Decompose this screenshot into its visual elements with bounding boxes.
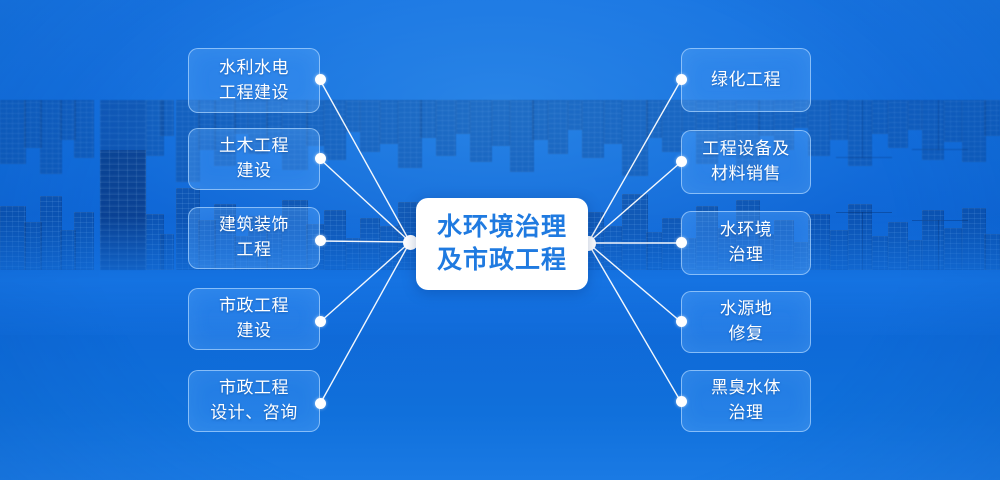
node-left-2-connector-dot xyxy=(315,153,326,164)
center-node-label: 水环境治理 及市政工程 xyxy=(437,211,567,277)
node-right-2-connector-dot xyxy=(676,156,687,167)
node-right-5-connector-dot xyxy=(676,396,687,407)
node-right-2-label: 工程设备及 材料销售 xyxy=(702,137,790,186)
node-left-1-label: 水利水电 工程建设 xyxy=(219,56,289,105)
node-right-4-connector-dot xyxy=(676,316,687,327)
connector-right-2 xyxy=(588,162,681,243)
node-right-3[interactable]: 水环境 治理 xyxy=(681,211,811,275)
node-right-1-connector-dot xyxy=(676,74,687,85)
connector-left-1 xyxy=(320,80,410,242)
connector-left-4 xyxy=(320,242,410,322)
connector-left-5 xyxy=(320,242,410,404)
connector-left-3 xyxy=(320,241,410,242)
diagram-canvas: 水利水电 工程建设 土木工程 建设 建筑装饰 工程 市政工程 建设 市政工程 设… xyxy=(0,0,1000,480)
node-left-3-label: 建筑装饰 工程 xyxy=(219,213,289,262)
node-right-5[interactable]: 黑臭水体 治理 xyxy=(681,370,811,432)
node-left-3-connector-dot xyxy=(315,235,326,246)
node-left-5-label: 市政工程 设计、咨询 xyxy=(210,376,298,425)
connector-right-4 xyxy=(588,243,681,322)
node-right-1[interactable]: 绿化工程 xyxy=(681,48,811,112)
node-left-5[interactable]: 市政工程 设计、咨询 xyxy=(188,370,320,432)
node-left-4-connector-dot xyxy=(315,316,326,327)
node-left-1-connector-dot xyxy=(315,74,326,85)
node-left-2-label: 土木工程 建设 xyxy=(219,134,289,183)
node-left-2[interactable]: 土木工程 建设 xyxy=(188,128,320,190)
node-right-3-connector-dot xyxy=(676,237,687,248)
node-right-2[interactable]: 工程设备及 材料销售 xyxy=(681,130,811,194)
node-left-5-connector-dot xyxy=(315,398,326,409)
node-left-3[interactable]: 建筑装饰 工程 xyxy=(188,207,320,269)
node-right-5-label: 黑臭水体 治理 xyxy=(711,376,781,425)
connector-right-1 xyxy=(588,80,681,243)
connector-right-5 xyxy=(588,243,681,402)
node-right-4-label: 水源地 修复 xyxy=(720,297,773,346)
node-left-1[interactable]: 水利水电 工程建设 xyxy=(188,48,320,113)
center-node[interactable]: 水环境治理 及市政工程 xyxy=(416,198,588,290)
node-right-1-label: 绿化工程 xyxy=(711,68,781,93)
node-right-4[interactable]: 水源地 修复 xyxy=(681,291,811,353)
connector-left-2 xyxy=(320,159,410,242)
node-right-3-label: 水环境 治理 xyxy=(720,218,773,267)
node-left-4-label: 市政工程 建设 xyxy=(219,294,289,343)
node-left-4[interactable]: 市政工程 建设 xyxy=(188,288,320,350)
